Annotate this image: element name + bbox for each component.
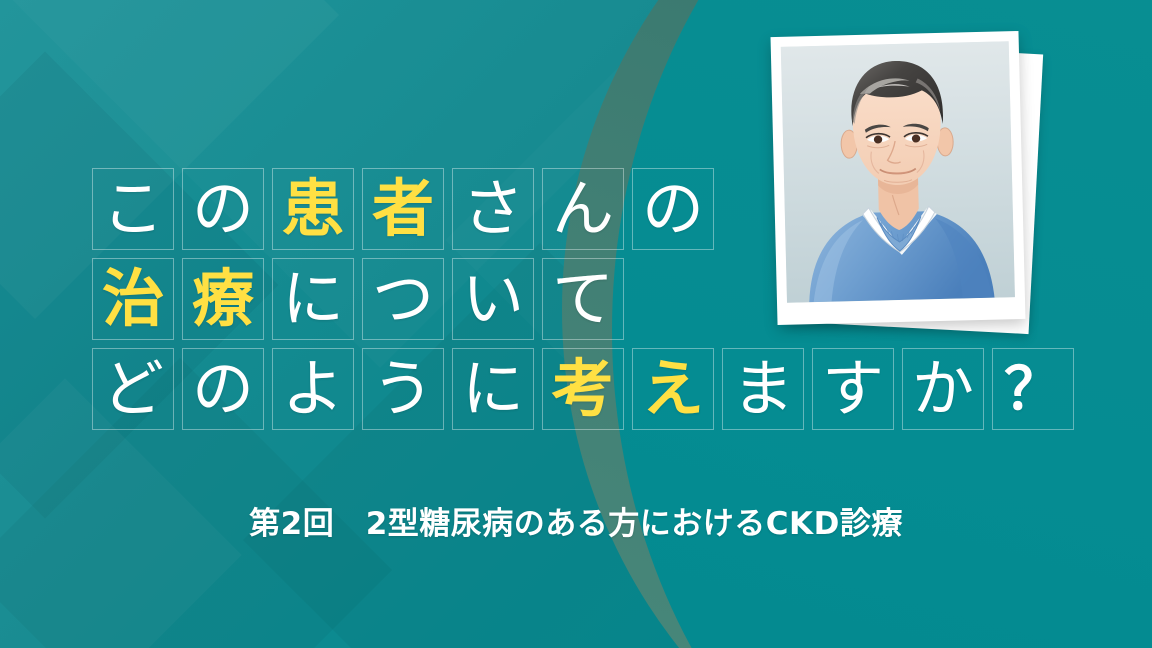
headline-char: か [902,348,984,430]
headline-char: こ [92,168,174,250]
headline-char: う [362,348,444,430]
headline-char: ど [92,348,174,430]
headline-char: の [632,168,714,250]
headline-char-highlighted: 考 [542,348,624,430]
headline-char-highlighted: 者 [362,168,444,250]
headline-char: す [812,348,894,430]
headline-char: に [272,258,354,340]
headline-char-highlighted: 療 [182,258,264,340]
photo-image-area [781,41,1015,302]
headline-char: に [452,348,534,430]
headline-char: て [542,258,624,340]
headline-char-highlighted: え [632,348,714,430]
slide-subtitle: 第2回 2型糖尿病のある方におけるCKD診療 [0,498,1152,543]
headline-row-3: ど の よ う に 考 え ま す か ？ [92,348,1074,430]
patient-photo [766,26,1066,346]
headline-char-highlighted: 治 [92,258,174,340]
headline-char: い [452,258,534,340]
patient-portrait-illustration [781,41,1015,302]
headline-char: さ [452,168,534,250]
headline-char: の [182,348,264,430]
headline-char: ま [722,348,804,430]
headline-char: よ [272,348,354,430]
headline-char: つ [362,258,444,340]
headline-char-highlighted: 患 [272,168,354,250]
headline-char: ん [542,168,624,250]
headline-char-question-mark: ？ [992,348,1074,430]
photo-frame-front [771,31,1026,325]
slide-canvas: こ の 患 者 さ ん の 治 療 に つ い て ど の よ う に 考 え … [0,0,1152,648]
headline-char: の [182,168,264,250]
